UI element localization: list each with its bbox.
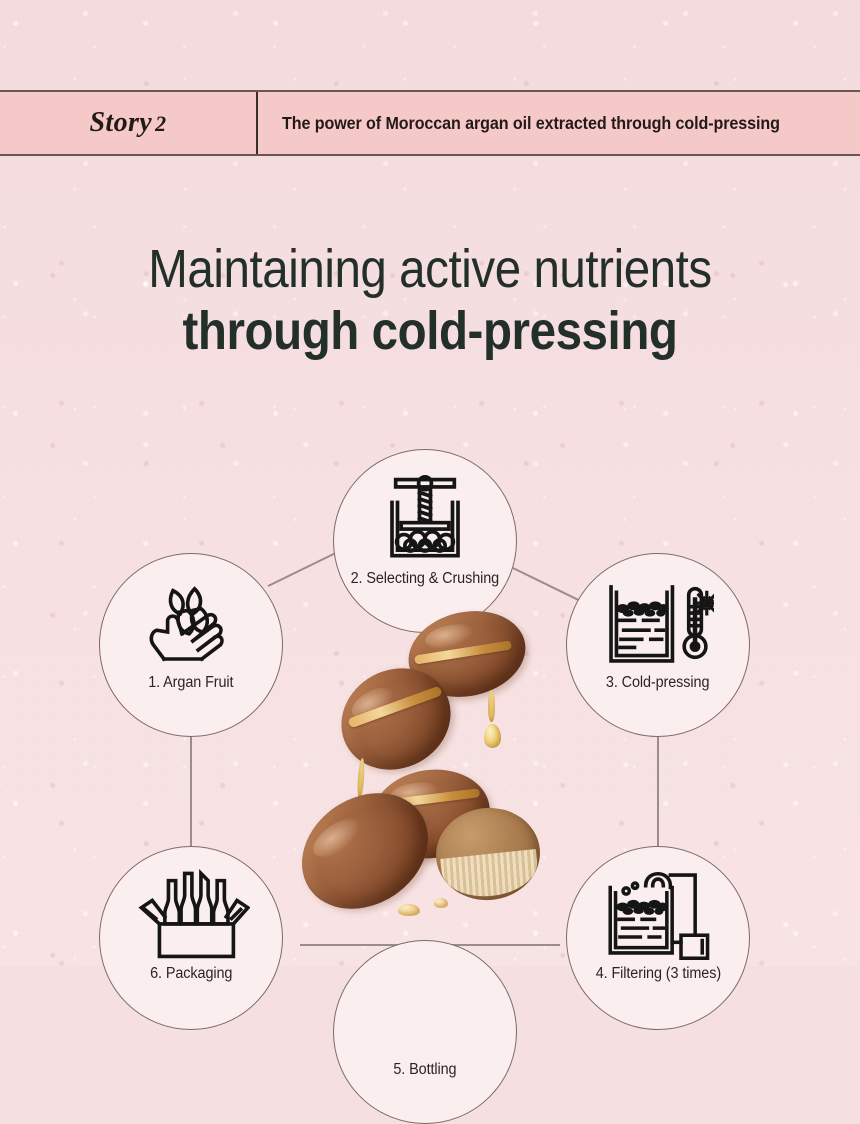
page-title-line-1: Maintaining active nutrients [52,242,809,296]
story-label-cell: Story2 [0,92,258,154]
process-step-2-caption: 2. Selecting & Crushing [351,570,500,588]
story-description: The power of Moroccan argan oil extracte… [282,113,780,134]
process-step-1[interactable]: 1. Argan Fruit [99,553,283,737]
story-description-cell: The power of Moroccan argan oil extracte… [258,92,860,154]
bottle-icon [365,967,485,1053]
process-step-6-caption: 5. Bottling [393,1061,456,1079]
process-step-1-caption: 1. Argan Fruit [148,674,233,692]
oil-drop [484,724,501,748]
page-title-line-2: through cold-pressing [52,304,809,358]
filtering-tank-with-pipe-icon [598,871,718,957]
connector-1-2 [268,551,339,587]
process-step-5-caption: 6. Packaging [150,965,232,983]
process-step-6[interactable]: 5. Bottling [333,940,517,1124]
connector-5-6 [190,735,192,847]
story-label: Story2 [89,107,166,139]
story-number: 2 [155,111,166,136]
screw-press-crusher-icon [365,476,485,562]
connector-2-3 [513,567,584,603]
argan-nuts-photo [288,608,540,948]
oil-drop [398,904,420,916]
story-label-word: Story [89,107,152,138]
story-band: Story2 The power of Moroccan argan oil e… [0,90,860,156]
process-step-2[interactable]: 2. Selecting & Crushing [333,449,517,633]
vat-with-thermometer-snowflake-icon [598,580,718,666]
oil-drip [357,758,366,798]
process-step-4[interactable]: 4. Filtering (3 times) [566,846,750,1030]
process-step-4-caption: 4. Filtering (3 times) [595,965,720,983]
oil-drop [434,898,448,908]
oil-drip [488,690,495,722]
process-step-3[interactable]: 3. Cold-pressing [566,553,750,737]
connector-3-4 [657,735,659,847]
hand-holding-argan-fruit-icon [131,580,251,666]
page-title: Maintaining active nutrients through col… [0,242,860,358]
process-step-3-caption: 3. Cold-pressing [606,674,709,692]
process-step-5[interactable]: 6. Packaging [99,846,283,1030]
bottles-in-box-icon [131,871,251,957]
